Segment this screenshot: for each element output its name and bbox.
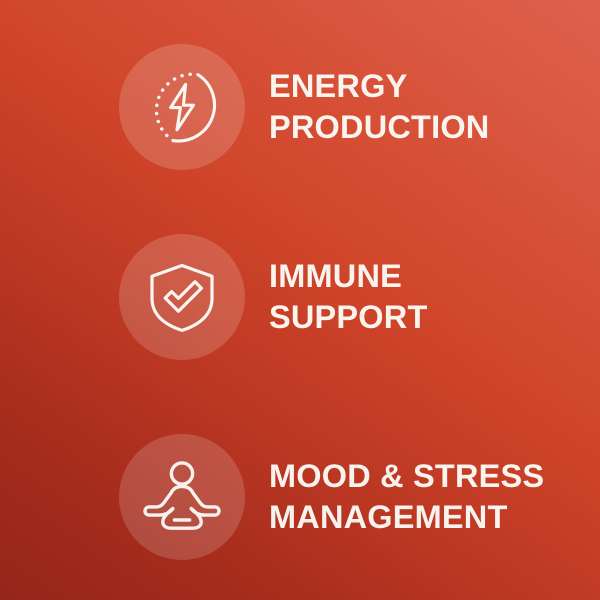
feature-row-energy-production: Energy Production: [0, 42, 600, 172]
feature-label-immune-support: Immune Support: [269, 256, 428, 338]
feature-label-mood-stress-management: Mood & Stress Management: [269, 456, 544, 538]
meditation-lotus-pose-icon: [138, 455, 226, 539]
feature-row-immune-support: Immune Support: [0, 232, 600, 362]
feature-label-energy-production: Energy Production: [269, 66, 489, 148]
icon-badge-immune-support: [119, 234, 245, 360]
icon-badge-energy-production: [119, 44, 245, 170]
feature-row-mood-stress-management: Mood & Stress Management: [0, 432, 600, 562]
icon-badge-mood-stress-management: [119, 434, 245, 560]
benefits-graphic: Energy Production Immune Support: [0, 0, 600, 600]
lightning-bolt-in-dotted-circle-icon: [140, 65, 224, 149]
shield-check-icon: [140, 255, 224, 339]
